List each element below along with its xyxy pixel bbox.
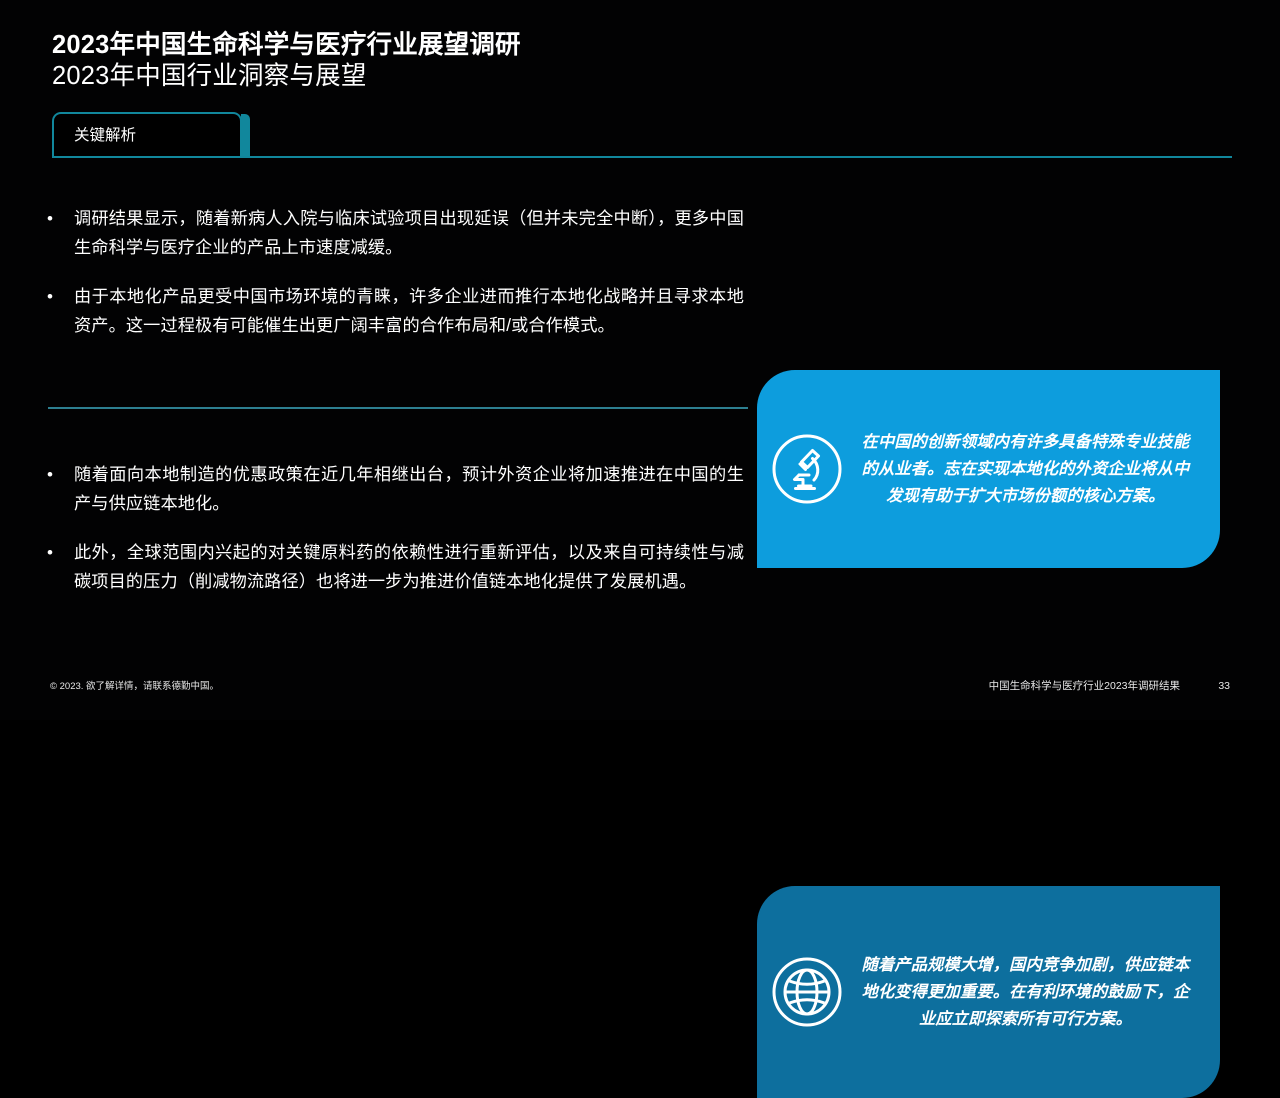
footer-meta: 中国生命科学与医疗行业2023年调研结果 33 (989, 679, 1230, 694)
slide-header: 2023年中国生命科学与医疗行业展望调研 2023年中国行业洞察与展望 (52, 30, 1232, 92)
footer-page-number: 33 (1214, 679, 1230, 694)
tab-right-edge (241, 114, 250, 158)
section-divider (48, 407, 748, 409)
bullet-marker: • (44, 282, 74, 311)
callout-text: 随着产品规模大增，国内竞争加剧，供应链本地化变得更加重要。在有利环境的鼓励下，企… (857, 952, 1220, 1033)
content-section-2: • 随着面向本地制造的优惠政策在近几年相继出台，预计外资企业将加速推进在中国的生… (0, 443, 1280, 655)
tab-key-analysis-label: 关键解析 (74, 125, 136, 147)
tab-underline (52, 156, 1232, 158)
list-item: • 调研结果显示，随着新病人入院与临床试验项目出现延误（但并未完全中断），更多中… (44, 204, 744, 262)
tab-key-analysis[interactable]: 关键解析 (52, 112, 242, 156)
page-title-secondary: 2023年中国行业洞察与展望 (52, 61, 1232, 92)
bullet-text: 随着面向本地制造的优惠政策在近几年相继出台，预计外资企业将加速推进在中国的生产与… (74, 460, 744, 518)
content-section-1: • 调研结果显示，随着新病人入院与临床试验项目出现延误（但并未完全中断），更多中… (0, 185, 1280, 385)
page-title-primary: 2023年中国生命科学与医疗行业展望调研 (52, 30, 1232, 61)
list-item: • 此外，全球范围内兴起的对关键原料药的依赖性进行重新评估，以及来自可持续性与减… (44, 538, 744, 596)
bullet-list-2: • 随着面向本地制造的优惠政策在近几年相继出台，预计外资企业将加速推进在中国的生… (44, 460, 744, 596)
bullet-text: 此外，全球范围内兴起的对关键原料药的依赖性进行重新评估，以及来自可持续性与减碳项… (74, 538, 744, 596)
bullet-marker: • (44, 204, 74, 233)
bullet-list-1: • 调研结果显示，随着新病人入院与临床试验项目出现延误（但并未完全中断），更多中… (44, 204, 744, 340)
footer-document-title: 中国生命科学与医疗行业2023年调研结果 (989, 679, 1180, 694)
bullet-text: 调研结果显示，随着新病人入院与临床试验项目出现延误（但并未完全中断），更多中国生… (74, 204, 744, 262)
bullet-marker: • (44, 538, 74, 567)
globe-icon (757, 954, 857, 1030)
bullet-marker: • (44, 460, 74, 489)
footer-copyright: © 2023. 欲了解详情，请联系德勤中国。 (50, 680, 219, 694)
list-item: • 随着面向本地制造的优惠政策在近几年相继出台，预计外资企业将加速推进在中国的生… (44, 460, 744, 518)
section-tab-row: 关键解析 (52, 112, 1232, 158)
callout-card-supply-chain: 随着产品规模大增，国内竞争加剧，供应链本地化变得更加重要。在有利环境的鼓励下，企… (757, 886, 1220, 1098)
slide-root: 2023年中国生命科学与医疗行业展望调研 2023年中国行业洞察与展望 关键解析… (0, 0, 1280, 720)
list-item: • 由于本地化产品更受中国市场环境的青睐，许多企业进而推行本地化战略并且寻求本地… (44, 282, 744, 340)
bullet-text: 由于本地化产品更受中国市场环境的青睐，许多企业进而推行本地化战略并且寻求本地资产… (74, 282, 744, 340)
